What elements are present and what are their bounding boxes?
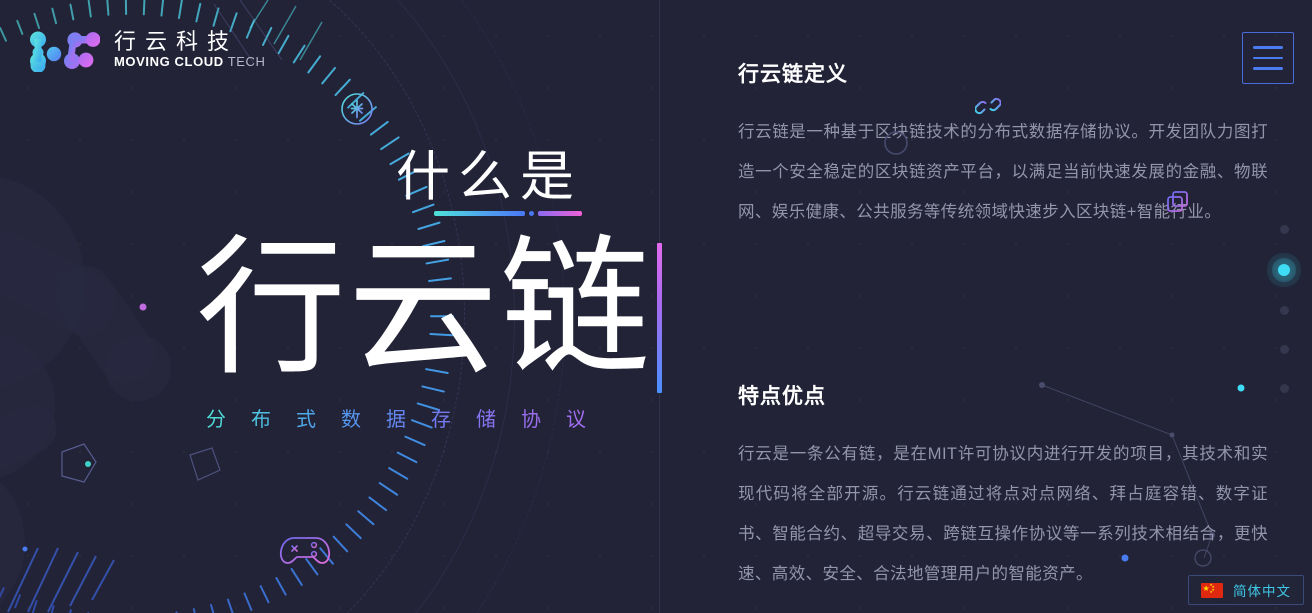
chain-link-icon [975, 93, 1001, 124]
rule-dot [529, 211, 534, 216]
dot-nav-item[interactable] [1278, 264, 1290, 276]
dot-nav-item[interactable] [1280, 345, 1289, 354]
section-body: 行云是一条公有链，是在MIT许可协议内进行开发的项目，其技术和实现代码将全部开源… [738, 434, 1268, 594]
hamburger-menu-button[interactable] [1242, 32, 1294, 84]
dot-nav-item[interactable] [1280, 306, 1289, 315]
copy-layers-icon [1164, 188, 1194, 223]
hero-underline-rule [434, 210, 582, 216]
section-heading: 行云链定义 [738, 58, 1268, 88]
brand-name-en-light: TECH [224, 54, 266, 69]
hamburger-line-1 [1253, 46, 1283, 49]
language-label: 简体中文 [1233, 580, 1291, 600]
bitcoin-circle-icon [337, 89, 377, 134]
language-switcher[interactable]: ★★★★★ 简体中文 [1188, 575, 1304, 605]
brand-name-en: MOVING CLOUD TECH [114, 55, 266, 70]
china-flag-icon: ★★★★★ [1201, 583, 1223, 598]
section-features: 特点优点 行云是一条公有链，是在MIT许可协议内进行开发的项目，其技术和实现代码… [738, 380, 1268, 594]
rule-segment-2 [538, 211, 582, 216]
rule-segment-1 [434, 211, 525, 216]
decorative-circle-outline [881, 128, 911, 158]
hero-text-group: 什么是 行云链 分布式数据存储协议 [0, 0, 660, 613]
hamburger-line-2 [1253, 57, 1283, 60]
hero-title: 行云链 [196, 233, 652, 383]
section-heading: 特点优点 [738, 380, 1268, 410]
dot-nav-item[interactable] [1280, 384, 1289, 393]
page-root: 什么是 行云链 分布式数据存储协议 [0, 0, 1312, 613]
content-panel: 行云链定义 行云链是一种基于区块链技术的分布式数据存储协议。开发团队力图打造一个… [660, 0, 1312, 613]
molecule-nodes-logo-icon [28, 28, 100, 72]
hero-tagline: 分布式数据存储协议 [206, 403, 611, 432]
brand-logo-text: 行云科技 MOVING CLOUD TECH [114, 30, 266, 70]
brand-name-en-bold: MOVING CLOUD [114, 54, 224, 69]
dot-nav-item[interactable] [1280, 225, 1289, 234]
hero-panel: 什么是 行云链 分布式数据存储协议 [0, 0, 660, 613]
hero-eyebrow: 什么是 [396, 150, 582, 204]
brand-name-cn: 行云科技 [114, 30, 266, 54]
brand-logo[interactable]: 行云科技 MOVING CLOUD TECH [28, 28, 266, 72]
hamburger-line-3 [1253, 67, 1283, 70]
gamepad-icon [278, 528, 332, 575]
section-dot-nav[interactable] [1278, 225, 1290, 393]
